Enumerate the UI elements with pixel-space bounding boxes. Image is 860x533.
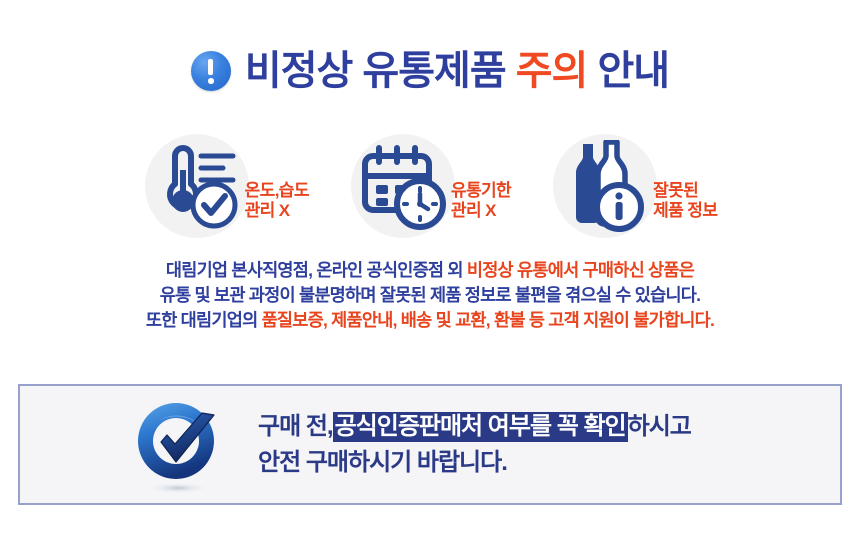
warning-item-temperature: 온도,습도 관리 X bbox=[143, 126, 309, 246]
body-line-2: 유통 및 보관 과정이 불분명하며 잘못된 제품 정보로 불편을 겪으실 수 있… bbox=[0, 283, 860, 308]
caption-line-2: 관리 X bbox=[245, 201, 290, 220]
body-line-3: 또한 대림기업의 품질보증, 제품안내, 배송 및 교환, 환불 등 고객 지원… bbox=[0, 308, 860, 333]
warning-item-product-info: 잘못된 제품 정보 bbox=[551, 126, 717, 246]
exclamation-stroke bbox=[208, 59, 213, 75]
warning-item-caption: 잘못된 제품 정보 bbox=[653, 181, 717, 221]
bottles-info-icon bbox=[551, 134, 663, 238]
notice-line1-prefix: 구매 전, bbox=[258, 413, 333, 440]
notice-line1-highlight: 공식인증판매처 여부를 꼭 확인 bbox=[333, 412, 628, 442]
page-title: 비정상 유통제품 주의 안내 bbox=[245, 51, 669, 91]
caption-line-1: 유통기한 bbox=[451, 181, 511, 200]
body-line-3-accent: 품질보증, 제품안내, 배송 및 교환, 환불 등 고객 지원이 불가합니다. bbox=[262, 310, 715, 330]
verification-notice-text: 구매 전,공식인증판매처 여부를 꼭 확인하시고 안전 구매하시기 바랍니다. bbox=[258, 409, 691, 481]
caption-line-2: 제품 정보 bbox=[653, 201, 717, 220]
body-line-3-normal: 또한 대림기업의 bbox=[146, 310, 262, 330]
body-line-1: 대림기업 본사직영점, 온라인 공식인증점 외 비정상 유통에서 구매하신 상품… bbox=[0, 258, 860, 283]
page-title-main: 비정상 유통제품 bbox=[245, 49, 516, 93]
page-title-accent: 주의 bbox=[516, 49, 588, 93]
exclamation-circle-icon bbox=[191, 51, 231, 91]
body-line-1-normal: 대림기업 본사직영점, 온라인 공식인증점 외 bbox=[166, 260, 467, 280]
thermometer-check-icon bbox=[143, 134, 255, 238]
caption-line-2: 관리 X bbox=[451, 201, 496, 220]
verification-notice-line-2: 안전 구매하시기 바랍니다. bbox=[258, 445, 691, 481]
warning-item-caption: 유통기한 관리 X bbox=[451, 181, 511, 221]
body-line-1-accent: 비정상 유통에서 구매하신 상품은 bbox=[467, 260, 694, 280]
page-title-tail: 안내 bbox=[587, 49, 669, 93]
warning-icon-row: 온도,습도 관리 X bbox=[0, 126, 860, 246]
warning-item-caption: 온도,습도 관리 X bbox=[245, 181, 309, 221]
verification-notice-panel: 구매 전,공식인증판매처 여부를 꼭 확인하시고 안전 구매하시기 바랍니다. bbox=[18, 384, 842, 505]
notice-page: 비정상 유통제품 주의 안내 bbox=[0, 0, 860, 533]
calendar-clock-icon bbox=[349, 134, 461, 238]
verification-notice-line-1: 구매 전,공식인증판매처 여부를 꼭 확인하시고 bbox=[258, 409, 691, 445]
blue-check-seal-icon bbox=[128, 393, 232, 497]
notice-line1-suffix: 하시고 bbox=[628, 413, 691, 440]
exclamation-dot bbox=[208, 78, 214, 84]
body-paragraph: 대림기업 본사직영점, 온라인 공식인증점 외 비정상 유통에서 구매하신 상품… bbox=[0, 258, 860, 333]
page-title-row: 비정상 유통제품 주의 안내 bbox=[0, 42, 860, 100]
caption-line-1: 온도,습도 bbox=[245, 181, 309, 200]
warning-item-expiry: 유통기한 관리 X bbox=[349, 126, 511, 246]
caption-line-1: 잘못된 bbox=[653, 181, 698, 200]
